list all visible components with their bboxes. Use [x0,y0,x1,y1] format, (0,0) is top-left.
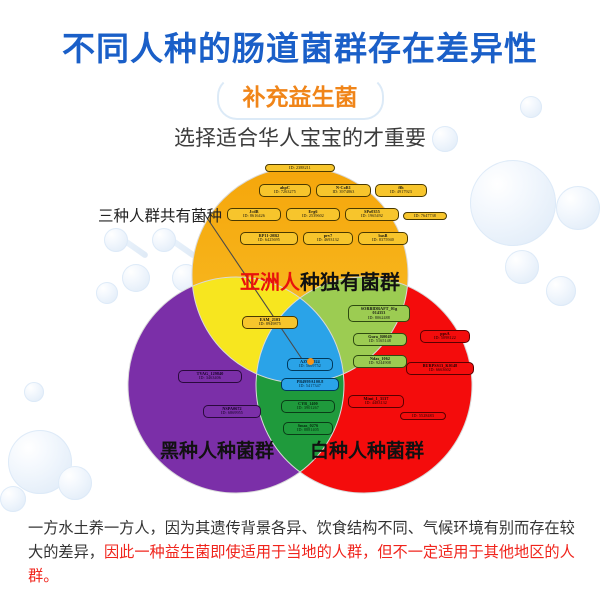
gene-tag: Smas_0276 ID: 8881405 [283,422,333,435]
callout-label: 三种人群共有菌种 [98,204,222,226]
gene-tag: prv7 ID: 4693132 [303,232,353,245]
page-title: 不同人种的肠道菌群存在差异性 [0,22,600,70]
venn-diagram: ID: 2388211 ahpC ID: 7263275 N-CoR1 ID: … [0,150,600,510]
gene-tag-id: ID: 4483132 [352,401,400,405]
gene-tag-id: ID: 2539602 [290,214,336,218]
gene-tag: RP11-20B2 ID: 6425695 [240,232,298,245]
venn-label-white: 白种人种菌群 [310,436,424,463]
gene-tag: PB4999A100.8 ID: 5417347 [281,378,339,391]
gene-tag: Ndas_1062 ID: 9244908 [353,355,407,368]
gene-tag-id: ID: 4693132 [307,238,349,242]
gene-tag-id: ID: 2388211 [269,166,331,170]
badge-wrapper: 补充益生菌 [0,74,600,118]
gene-tag-id: ID: 9244908 [357,361,403,365]
gene-tag: EAM_2103 ID: 8949875 [242,316,298,329]
gene-tag-id: ID: 6663602 [410,368,470,372]
gene-tag: Mimi_1_3137 ID: 4483132 [348,395,404,408]
venn-label-asian-highlight: 亚洲人 [240,272,300,294]
gene-tag-id: ID: 4917923 [379,190,423,194]
gene-tag-id: ID: 5165148 [357,339,403,343]
gene-tag: N-CoR1 ID: 3974863 [316,184,371,197]
gene-tag-id: ID: 3463406 [182,376,238,380]
gene-tag: ID: 2388211 [265,164,335,172]
gene-tag: ffh ID: 4917923 [375,184,427,197]
gene-tag: CYB_1400 ID: 3901267 [281,400,335,413]
gene-tag-id: ID: 3974863 [320,190,367,194]
gene-tag-id: ID: 8881405 [287,428,329,432]
gene-tag: SORBIDRAFT_01g 014353 ID: 8062488 [348,305,410,322]
gene-tag: ahpC ID: 7263275 [259,184,311,197]
gene-tag: ppsA ID: 5098122 [420,330,470,343]
gene-tag-id: ID: 8062488 [352,316,406,320]
gene-tag: SPo0355 ID: 1965492 [345,208,399,221]
gene-tag: BURPSS13_K0148 ID: 6663602 [406,362,474,375]
gene-tag-id: ID: 8375940 [362,238,404,242]
gene-tag: NSPA0672 ID: 6869955 [203,405,261,418]
gene-tag: ID: 7647738 [403,212,447,220]
gene-tag-id: ID: 8616426 [231,214,277,218]
gene-tag-id: ID: 1965492 [349,214,395,218]
footer-paragraph: 一方水土养一方人，因为其遗传背景各异、饮食结构不同、气候环境有别而存在较大的差异… [28,517,576,589]
gene-tag: basB ID: 8375940 [358,232,408,245]
gene-tag: ID: 5528483 [400,412,446,420]
venn-shapes [0,150,600,510]
footer-text-highlight: 因此一种益生菌即使适用于当地的人群，但不一定适用于其他地区的人群。 [28,544,575,585]
venn-label-black: 黑种人种菌群 [160,436,274,463]
gene-tag: Erg6 ID: 2539602 [286,208,340,221]
gene-tag-id: ID: 5528483 [404,414,442,418]
gene-tag: TVAG_129840 ID: 3463406 [178,370,242,383]
gene-tag-id: ID: 6425695 [244,238,294,242]
gene-tag: JcdB ID: 8616426 [227,208,281,221]
page-subtitle: 选择适合华人宝宝的才重要 [0,122,600,152]
status-badge: 补充益生菌 [217,74,384,118]
gene-tag-id: ID: 5098122 [424,336,466,340]
gene-tag-id: ID: 7263275 [263,190,307,194]
gene-tag-id: ID: 3901267 [285,406,331,410]
gene-tag-id: ID: 6869955 [207,411,257,415]
venn-label-asian: 亚洲人种独有菌群 [240,266,400,295]
gene-tag-id: ID: 5417347 [285,384,335,388]
gene-tag-id: ID: 7647738 [407,214,443,218]
gene-tag-id: ID: 8949875 [246,322,294,326]
venn-label-asian-rest: 种独有菌群 [300,272,400,294]
gene-tag: Gura_R0049 ID: 5165148 [353,333,407,346]
orange-dot-icon [307,358,314,365]
